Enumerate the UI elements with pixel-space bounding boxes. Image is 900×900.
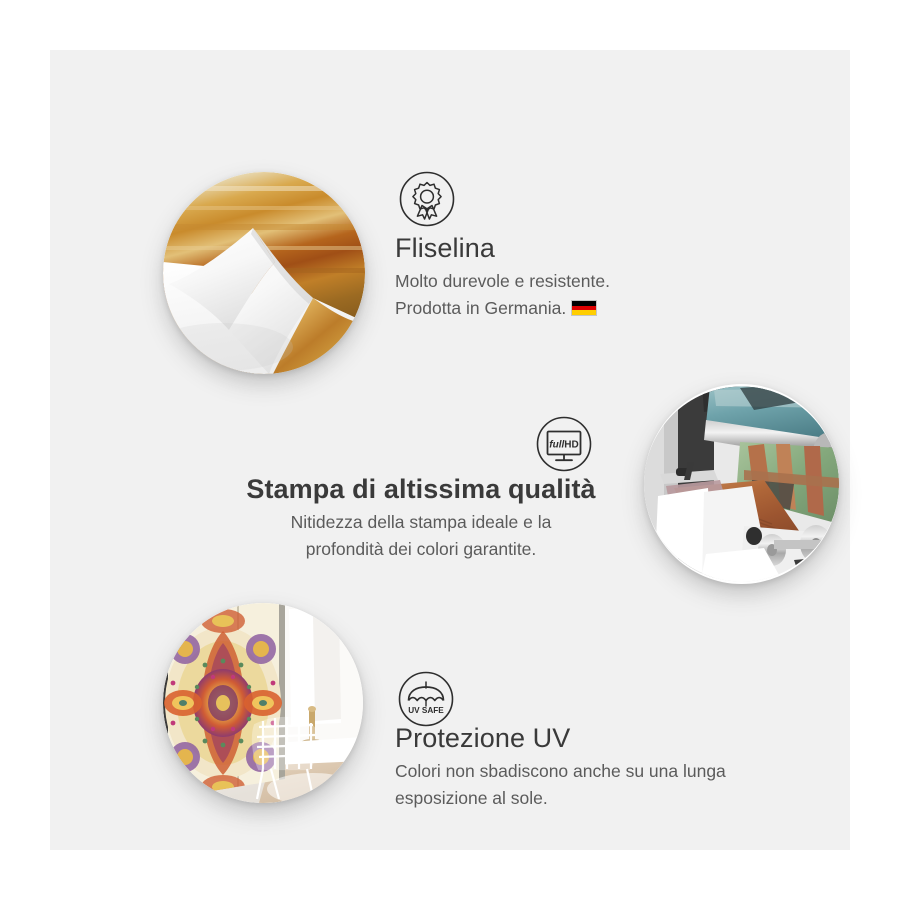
fullhd-label-italic: full [549,439,564,450]
body-line-1: Molto durevole e resistente. [395,271,610,291]
text-column-fliselina: Fliselina Molto durevole e resistente. P… [395,233,815,322]
body-line-2: profondità dei colori garantite. [306,539,537,559]
body-line-1: Colori non sbadiscono anche su una lunga [395,761,726,781]
photo-peeling-wallpaper-wrap [163,172,365,374]
printing-machine-photo [644,384,839,584]
body-line-2: Prodotta in Germania. [395,298,566,318]
text-column-uv: Protezione UV Colori non sbadiscono anch… [395,723,815,812]
feature-body-quality: Nitidezza della stampa ideale e la profo… [240,509,602,563]
text-column-quality: Stampa di altissima qualità Nitidezza de… [240,474,602,563]
feature-title-uv: Protezione UV [395,723,815,754]
feature-body-uv: Colori non sbadiscono anche su una lunga… [395,758,815,812]
fullhd-monitor-icon: fullHD [535,415,593,473]
feature-title-fliselina: Fliselina [395,233,815,264]
svg-text:fullHD: fullHD [549,439,578,450]
feature-title-quality: Stampa di altissima qualità [240,474,602,505]
features-panel: Fliselina Molto durevole e resistente. P… [50,50,850,850]
photo-mandala-interior-wrap [163,603,363,803]
feature-body-fliselina: Molto durevole e resistente. Prodotta in… [395,268,815,322]
body-line-1: Nitidezza della stampa ideale e la [291,512,552,532]
body-line-2: esposizione al sole. [395,788,548,808]
uv-safe-umbrella-icon: UV SAFE [397,670,455,728]
peeling-wallpaper-photo [163,172,365,374]
product-features-page: Fliselina Molto durevole e resistente. P… [0,0,900,900]
award-rosette-icon [398,170,456,228]
fullhd-label-upright: HD [564,439,578,450]
german-flag-icon [571,300,597,316]
mandala-wallpaper-interior-photo [163,603,363,803]
uv-safe-label: UV SAFE [408,706,444,715]
photo-printing-machine-wrap [644,384,839,584]
